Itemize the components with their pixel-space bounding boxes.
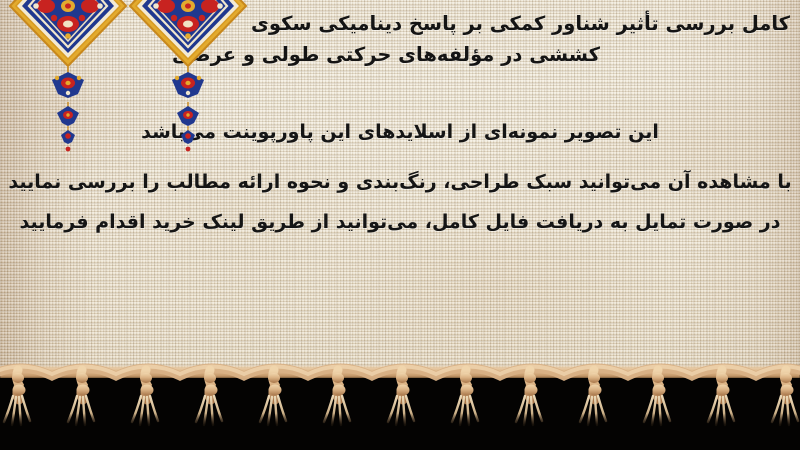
body-line-2: با مشاهده آن می‌توانید سبک طراحی، رنگ‌بن… bbox=[0, 162, 800, 202]
pendant-drop-large bbox=[172, 67, 204, 98]
tassel-group bbox=[4, 370, 798, 425]
body-line-3: در صورت تمایل به دریافت فایل کامل، می‌تو… bbox=[0, 202, 800, 242]
pendant-drop-chain-icon bbox=[128, 102, 248, 162]
pendant-medallion-icon bbox=[128, 0, 248, 104]
pendant-drop-chain-icon bbox=[8, 102, 128, 162]
pendant-medallion-icon bbox=[8, 0, 128, 104]
presentation-slide: کامل بررسی تأثیر شناور کمکی بر پاسخ دینا… bbox=[0, 0, 800, 450]
carpet-fringe bbox=[0, 352, 800, 450]
fringe-tassels bbox=[0, 352, 800, 450]
pendant-drop-large bbox=[52, 67, 84, 98]
carpet-pendant-ornament-left bbox=[8, 0, 128, 162]
carpet-pendant-ornament-right bbox=[128, 0, 248, 162]
